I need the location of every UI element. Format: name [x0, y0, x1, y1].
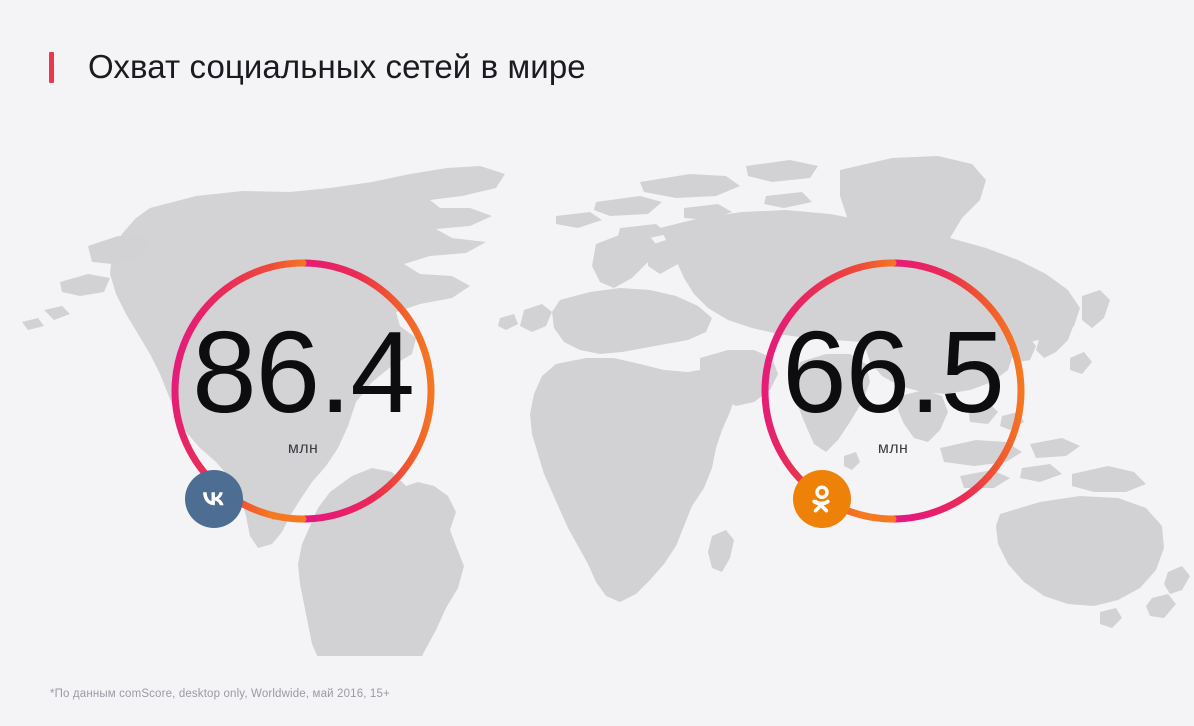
page-title: Охват социальных сетей в мире	[88, 48, 586, 86]
title-accent-bar	[49, 52, 54, 83]
metric-circle-vk: 86.4 млн	[175, 263, 431, 519]
metric-value-ok: 66.5	[782, 324, 1004, 421]
metric-unit-vk: млн	[288, 440, 318, 458]
metric-circle-ok: 66.5 млн	[765, 263, 1021, 519]
metric-unit-ok: млн	[878, 440, 908, 458]
footnote-source: *По данным comScore, desktop only, World…	[50, 688, 390, 700]
slide-root: Охват социальных сетей в мире	[0, 0, 1194, 726]
header: Охват социальных сетей в мире	[49, 42, 586, 92]
ok-logo-icon[interactable]	[793, 470, 851, 528]
vk-logo-icon[interactable]	[185, 470, 243, 528]
metric-value-vk: 86.4	[192, 324, 414, 421]
